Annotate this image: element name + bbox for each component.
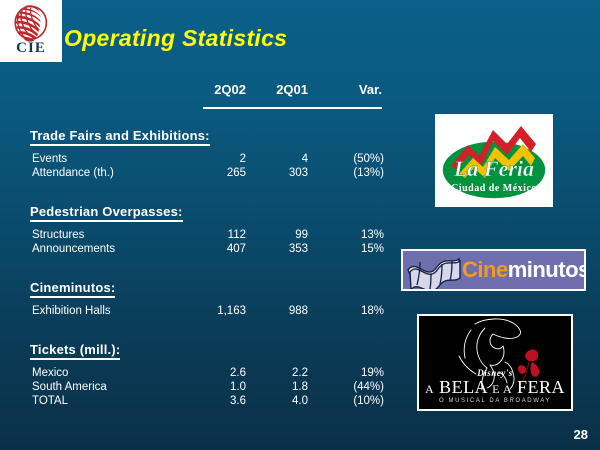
row-label: South America xyxy=(32,381,107,393)
column-header-var: Var. xyxy=(326,82,382,97)
bela-fera-subtitle: O MUSICAL DA BROADWAY xyxy=(419,398,571,404)
row-value-2q01: 2.2 xyxy=(254,367,308,379)
header-rule xyxy=(203,107,382,109)
section-tickets: Tickets (mill.): Mexico 2.6 2.2 19% Sout… xyxy=(30,341,386,409)
row-value-2q02: 407 xyxy=(184,243,246,255)
section-rows: Mexico 2.6 2.2 19% South America 1.0 1.8… xyxy=(30,367,386,409)
cineminutos-wordmark: Cineminutos xyxy=(462,259,586,281)
row-value-2q01: 1.8 xyxy=(254,381,308,393)
column-header-2q01: 2Q01 xyxy=(256,82,308,97)
table-header-row: 2Q02 2Q01 Var. xyxy=(30,82,386,102)
cie-logo: CIE xyxy=(0,0,62,62)
row-value-2q02: 3.6 xyxy=(184,395,246,407)
row-value-var: 19% xyxy=(326,367,384,379)
section-cineminutos: Cineminutos: Exhibition Halls 1,163 988 … xyxy=(30,279,386,319)
row-value-2q02: 2 xyxy=(184,153,246,165)
row-value-2q02: 1.0 xyxy=(184,381,246,393)
svg-text:Ciudad de México: Ciudad de México xyxy=(451,183,537,194)
row-label: Events xyxy=(32,153,67,165)
section-rows: Events 2 4 (50%) Attendance (th.) 265 30… xyxy=(30,153,386,181)
row-value-var: 13% xyxy=(326,229,384,241)
row-value-2q01: 99 xyxy=(254,229,308,241)
section-heading: Pedestrian Overpasses: xyxy=(30,204,183,222)
section-rows: Exhibition Halls 1,163 988 18% xyxy=(30,305,386,319)
table-row: Events 2 4 (50%) xyxy=(30,153,386,167)
page-title: Operating Statistics xyxy=(64,25,287,52)
row-value-var: 15% xyxy=(326,243,384,255)
section-heading: Tickets (mill.): xyxy=(30,342,120,360)
row-value-2q02: 2.6 xyxy=(184,367,246,379)
row-value-2q01: 353 xyxy=(254,243,308,255)
section-heading: Cineminutos: xyxy=(30,280,115,298)
row-label: Structures xyxy=(32,229,84,241)
globe-icon xyxy=(11,4,51,42)
statistics-table: 2Q02 2Q01 Var. Trade Fairs and Exhibitio… xyxy=(30,82,386,409)
table-row: Attendance (th.) 265 303 (13%) xyxy=(30,167,386,181)
row-value-var: (44%) xyxy=(326,381,384,393)
bela-fera-title: A BELA E A FERA xyxy=(419,378,571,399)
svg-text:La Feria: La Feria xyxy=(453,156,534,181)
row-value-2q02: 1,163 xyxy=(184,305,246,317)
row-label: Announcements xyxy=(32,243,115,255)
table-row: Announcements 407 353 15% xyxy=(30,243,386,257)
cineminutos-logo: Cineminutos xyxy=(401,249,586,291)
la-feria-artwork: La Feria La Feria Ciudad de México xyxy=(435,114,553,207)
row-label: Mexico xyxy=(32,367,68,379)
row-label: Attendance (th.) xyxy=(32,167,114,179)
table-row: TOTAL 3.6 4.0 (10%) xyxy=(30,395,386,409)
bela-fera-title-a: A xyxy=(425,382,434,396)
column-header-2q02: 2Q02 xyxy=(186,82,246,97)
page-number: 28 xyxy=(574,427,588,442)
la-feria-logo: La Feria La Feria Ciudad de México xyxy=(435,114,553,207)
row-label: TOTAL xyxy=(32,395,68,407)
row-value-2q01: 303 xyxy=(254,167,308,179)
row-value-2q02: 265 xyxy=(184,167,246,179)
section-rows: Structures 112 99 13% Announcements 407 … xyxy=(30,229,386,257)
row-value-var: (50%) xyxy=(326,153,384,165)
section-pedestrian-overpasses: Pedestrian Overpasses: Structures 112 99… xyxy=(30,203,386,257)
slide-canvas: CIE Operating Statistics 2Q02 2Q01 Var. … xyxy=(0,0,600,450)
section-trade-fairs: Trade Fairs and Exhibitions: Events 2 4 … xyxy=(30,127,386,181)
row-value-2q01: 988 xyxy=(254,305,308,317)
bela-fera-title-fera: FERA xyxy=(517,377,565,397)
cineminutos-word-b: minutos xyxy=(508,257,586,282)
row-value-2q01: 4.0 xyxy=(254,395,308,407)
table-row: Structures 112 99 13% xyxy=(30,229,386,243)
cineminutos-word-a: Cine xyxy=(462,257,508,282)
row-value-2q02: 112 xyxy=(184,229,246,241)
table-row: Mexico 2.6 2.2 19% xyxy=(30,367,386,381)
row-label: Exhibition Halls xyxy=(32,305,111,317)
row-value-2q01: 4 xyxy=(254,153,308,165)
a-bela-e-a-fera-logo: Disney's A BELA E A FERA O MUSICAL DA BR… xyxy=(417,314,573,411)
cie-logo-text: CIE xyxy=(0,40,62,56)
row-value-var: (13%) xyxy=(326,167,384,179)
row-value-var: (10%) xyxy=(326,395,384,407)
section-heading: Trade Fairs and Exhibitions: xyxy=(30,128,210,146)
table-row: Exhibition Halls 1,163 988 18% xyxy=(30,305,386,319)
table-row: South America 1.0 1.8 (44%) xyxy=(30,381,386,395)
bela-fera-title-bela: BELA xyxy=(439,377,487,397)
row-value-var: 18% xyxy=(326,305,384,317)
film-strip-icon xyxy=(405,252,463,290)
bela-fera-title-ea: E A xyxy=(492,382,512,396)
